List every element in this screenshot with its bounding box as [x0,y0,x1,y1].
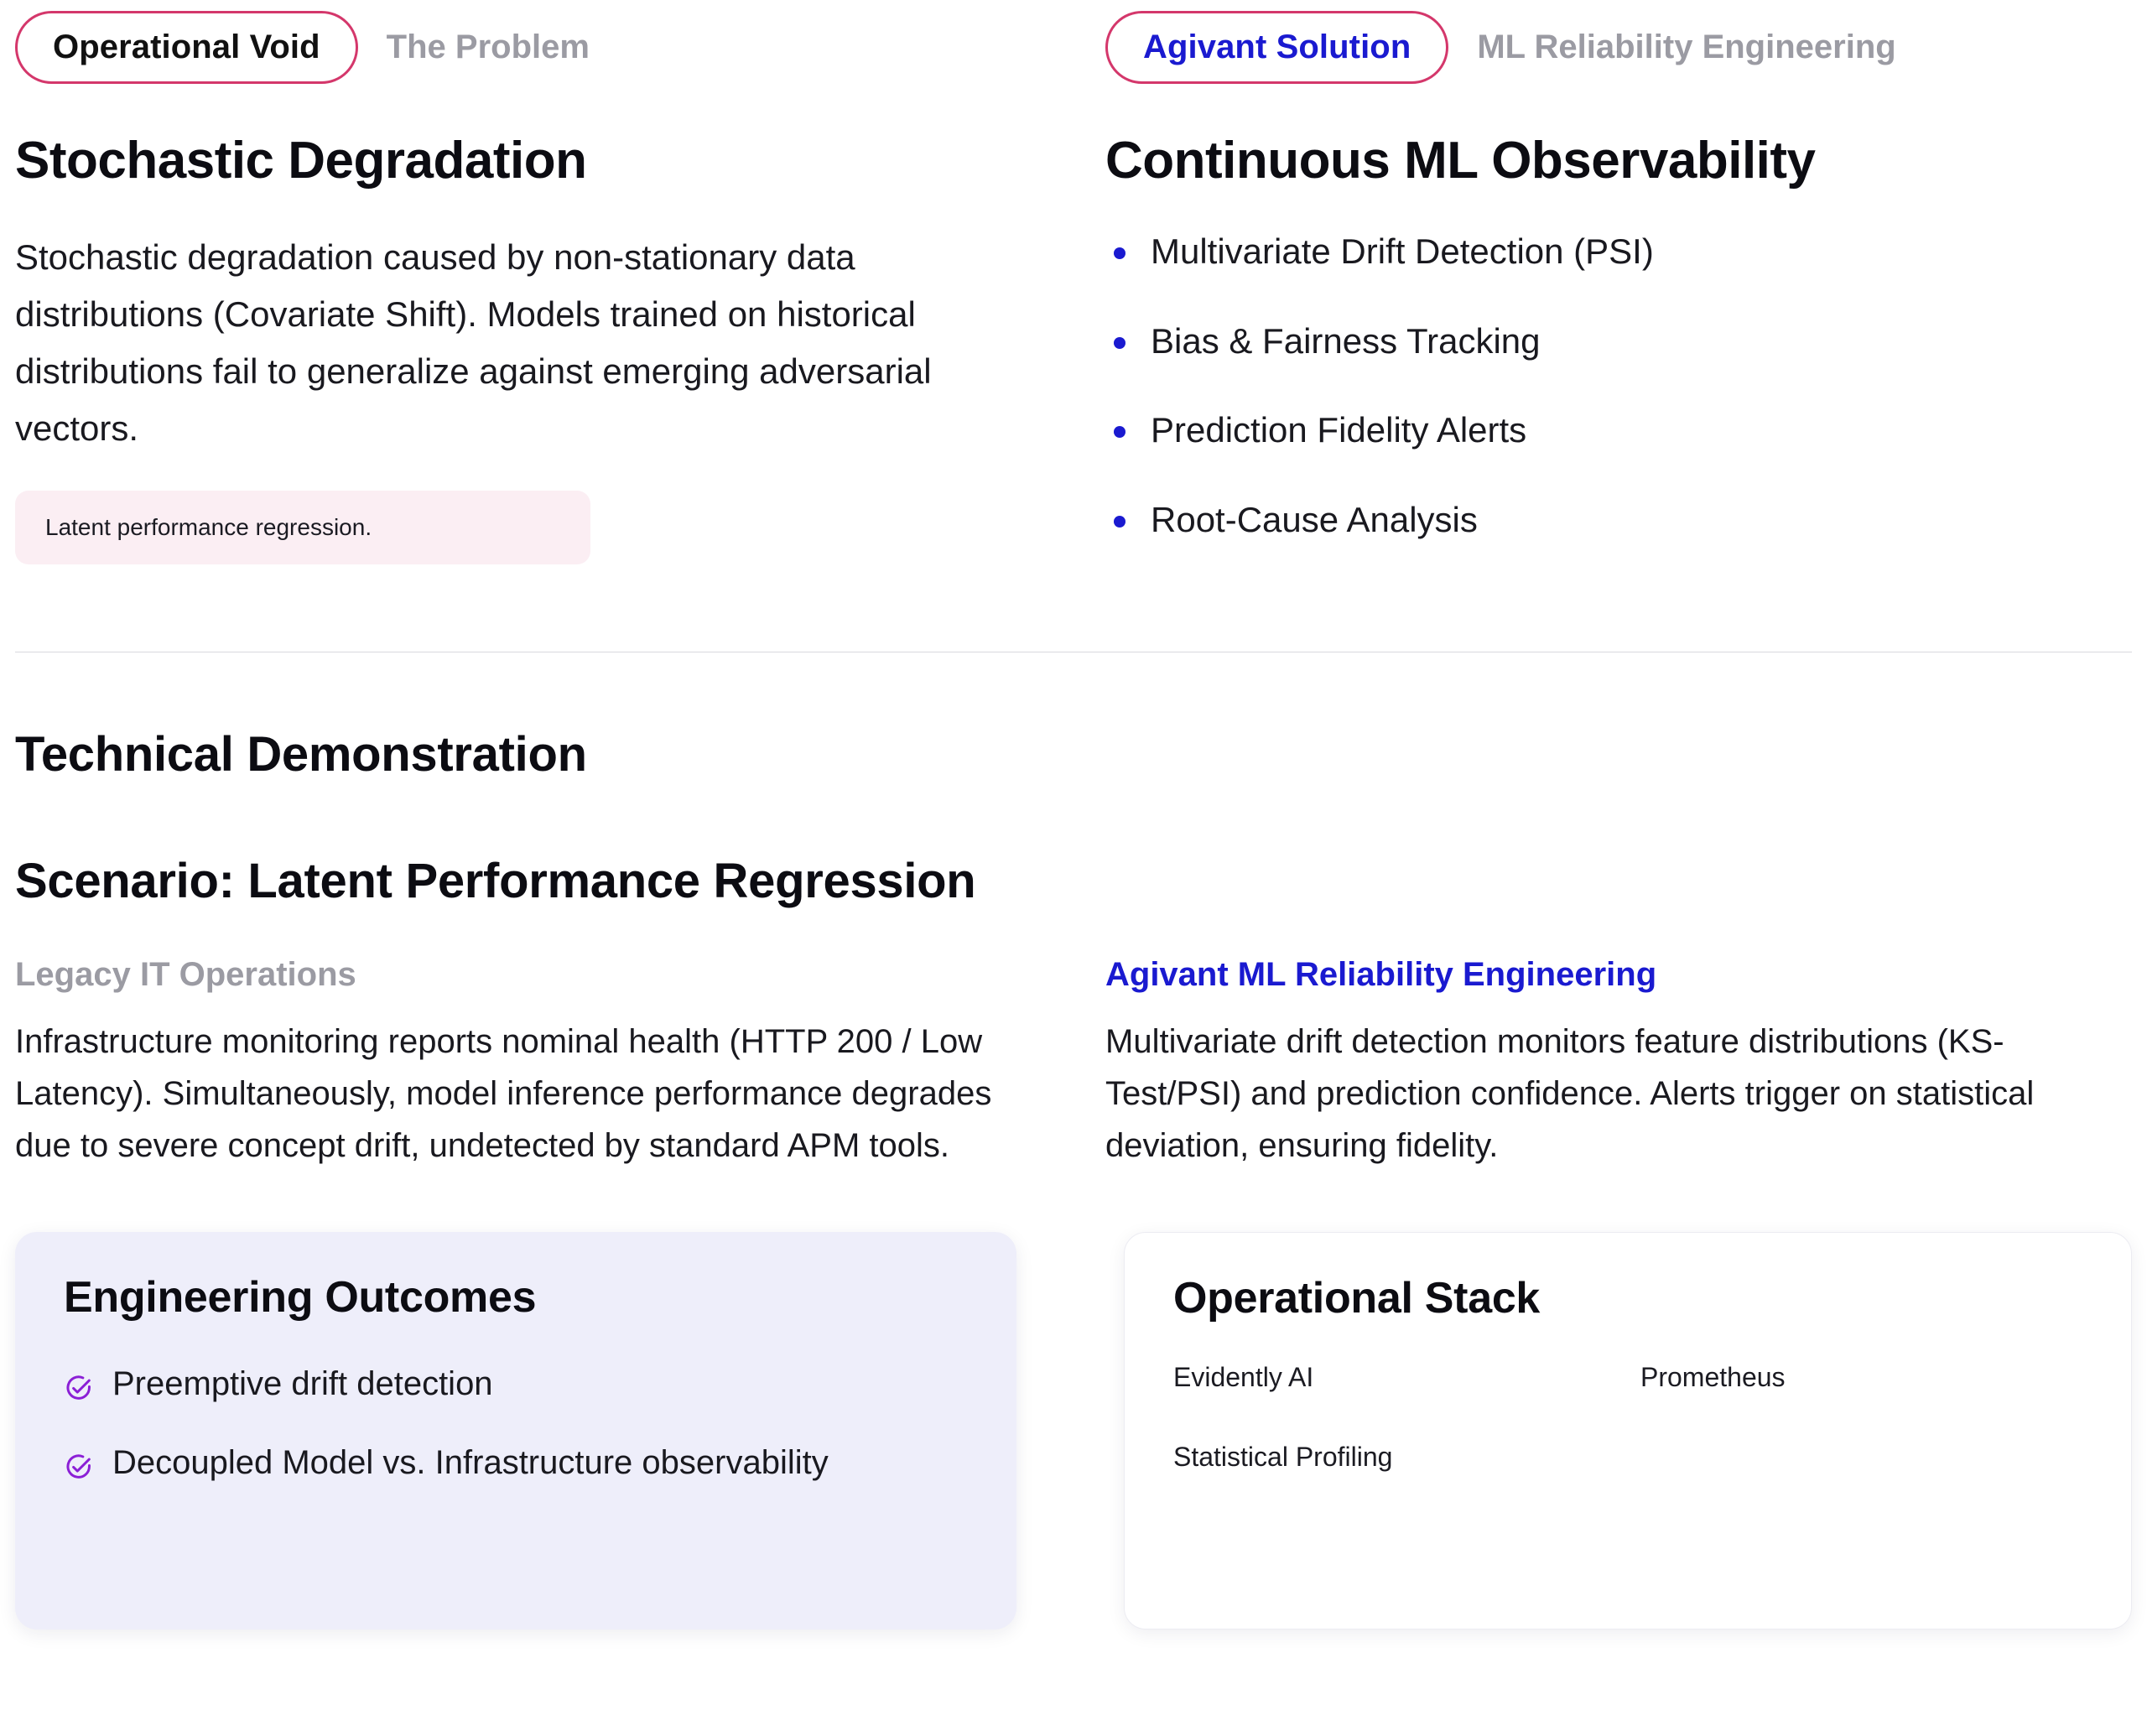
problem-caption: The Problem [387,29,590,66]
list-item: Multivariate Drift Detection (PSI) [1105,229,2132,275]
solution-feature-list: Multivariate Drift Detection (PSI) Bias … [1105,229,2132,543]
bullet-dot-icon [1114,516,1125,528]
engineering-outcomes-card: Engineering Outcomes Preemptive drift de… [15,1232,1016,1629]
agivant-solution-badge[interactable]: Agivant Solution [1105,11,1448,84]
agivant-column: Agivant ML Reliability Engineering Multi… [1105,956,2132,1172]
agivant-body-text: Multivariate drift detection monitors fe… [1105,1016,2132,1172]
list-item-label: Bias & Fairness Tracking [1151,321,1541,361]
problem-solution-row: Stochastic Degradation Stochastic degrad… [15,94,2132,564]
latent-regression-tag: Latent performance regression. [15,491,590,564]
bullet-dot-icon [1114,337,1125,349]
list-item-label: Preemptive drift detection [112,1359,493,1408]
circle-check-icon [64,1368,92,1396]
circle-check-icon [64,1447,92,1475]
technical-demonstration-title: Technical Demonstration [15,726,2132,782]
list-item-label: Decoupled Model vs. Infrastructure obser… [112,1438,829,1487]
bottom-cards-row: Engineering Outcomes Preemptive drift de… [15,1232,2132,1629]
list-item-label: Multivariate Drift Detection (PSI) [1151,231,1654,271]
problem-body-text: Stochastic degradation caused by non-sta… [15,229,1005,457]
solution-heading: Continuous ML Observability [1105,131,2132,190]
list-item: Preemptive drift detection [64,1359,911,1408]
list-item: Decoupled Model vs. Infrastructure obser… [64,1438,911,1487]
bullet-dot-icon [1114,247,1125,259]
list-item: Prediction Fidelity Alerts [1105,408,2132,454]
legacy-body-text: Infrastructure monitoring reports nomina… [15,1016,1013,1172]
operational-void-badge[interactable]: Operational Void [15,11,358,84]
operational-stack-title: Operational Stack [1173,1273,2082,1323]
scenario-title: Scenario: Latent Performance Regression [15,853,2132,909]
header-solution-column: Agivant Solution ML Reliability Engineer… [1105,0,2132,94]
header-problem-column: Operational Void The Problem [15,0,1105,94]
legacy-label: Legacy IT Operations [15,956,1013,994]
engineering-outcomes-list: Preemptive drift detection Decoupled Mod… [64,1359,968,1487]
section-divider [15,652,2132,652]
solution-column: Continuous ML Observability Multivariate… [1105,94,2132,564]
comparison-row: Legacy IT Operations Infrastructure moni… [15,956,2132,1172]
agivant-label: Agivant ML Reliability Engineering [1105,956,2132,994]
problem-heading: Stochastic Degradation [15,131,1013,190]
operational-stack-grid: Evidently AI Prometheus Statistical Prof… [1173,1362,2082,1473]
bullet-dot-icon [1114,426,1125,438]
list-item-label: Prediction Fidelity Alerts [1151,410,1526,450]
slide-root: Operational Void The Problem Agivant Sol… [0,0,2147,1736]
stack-item: Statistical Profiling [1173,1442,1615,1473]
list-item: Bias & Fairness Tracking [1105,319,2132,365]
solution-badge-row: Agivant Solution ML Reliability Engineer… [1105,0,2132,94]
stack-item: Prometheus [1640,1362,2082,1393]
operational-stack-card: Operational Stack Evidently AI Prometheu… [1124,1232,2132,1629]
problem-badge-row: Operational Void The Problem [15,0,1013,94]
stack-item: Evidently AI [1173,1362,1615,1393]
list-item-label: Root-Cause Analysis [1151,500,1478,539]
problem-column: Stochastic Degradation Stochastic degrad… [15,94,1105,564]
solution-caption: ML Reliability Engineering [1477,29,1895,66]
engineering-outcomes-title: Engineering Outcomes [64,1272,968,1323]
legacy-column: Legacy IT Operations Infrastructure moni… [15,956,1105,1172]
list-item: Root-Cause Analysis [1105,497,2132,543]
header-row: Operational Void The Problem Agivant Sol… [15,0,2132,94]
